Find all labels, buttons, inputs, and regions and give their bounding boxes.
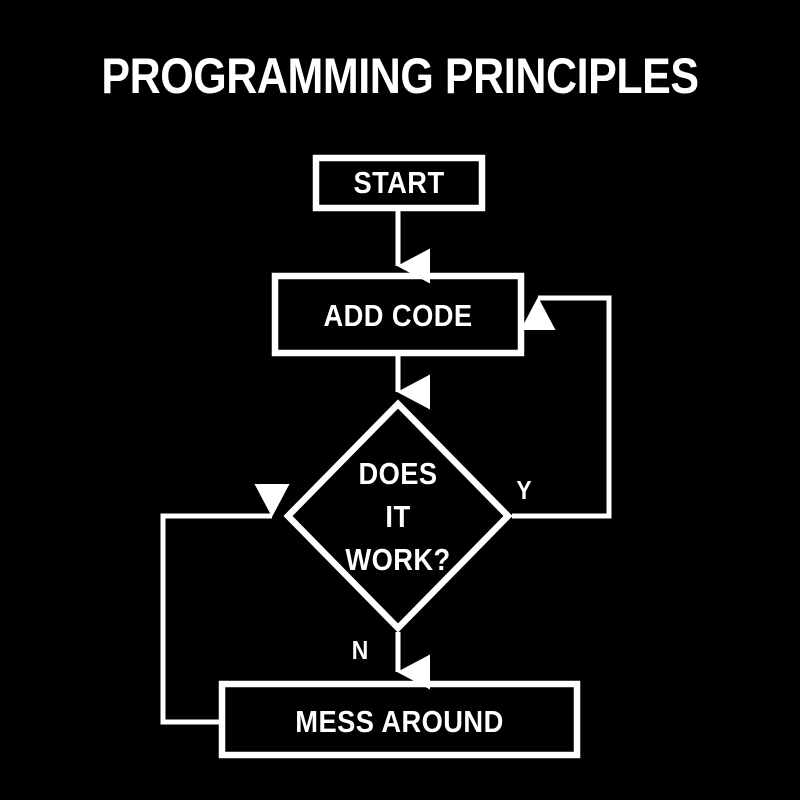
node-decision-label-line-3: WORK?	[298, 538, 499, 581]
node-decision-label: DOES IT WORK?	[298, 452, 499, 581]
edge-label-no: N	[348, 636, 373, 664]
node-decision-label-line-1: DOES	[298, 452, 499, 495]
node-mess-around-label: MESS AROUND	[241, 703, 559, 741]
node-decision-label-line-2: IT	[298, 495, 499, 538]
edge-label-yes: Y	[512, 476, 537, 504]
node-add-code-label: ADD CODE	[287, 297, 509, 335]
flowchart-graphics	[0, 0, 800, 800]
flowchart-canvas: PROGRAMMING PRINCIPLES	[0, 0, 800, 800]
node-start-label: START	[323, 163, 474, 203]
